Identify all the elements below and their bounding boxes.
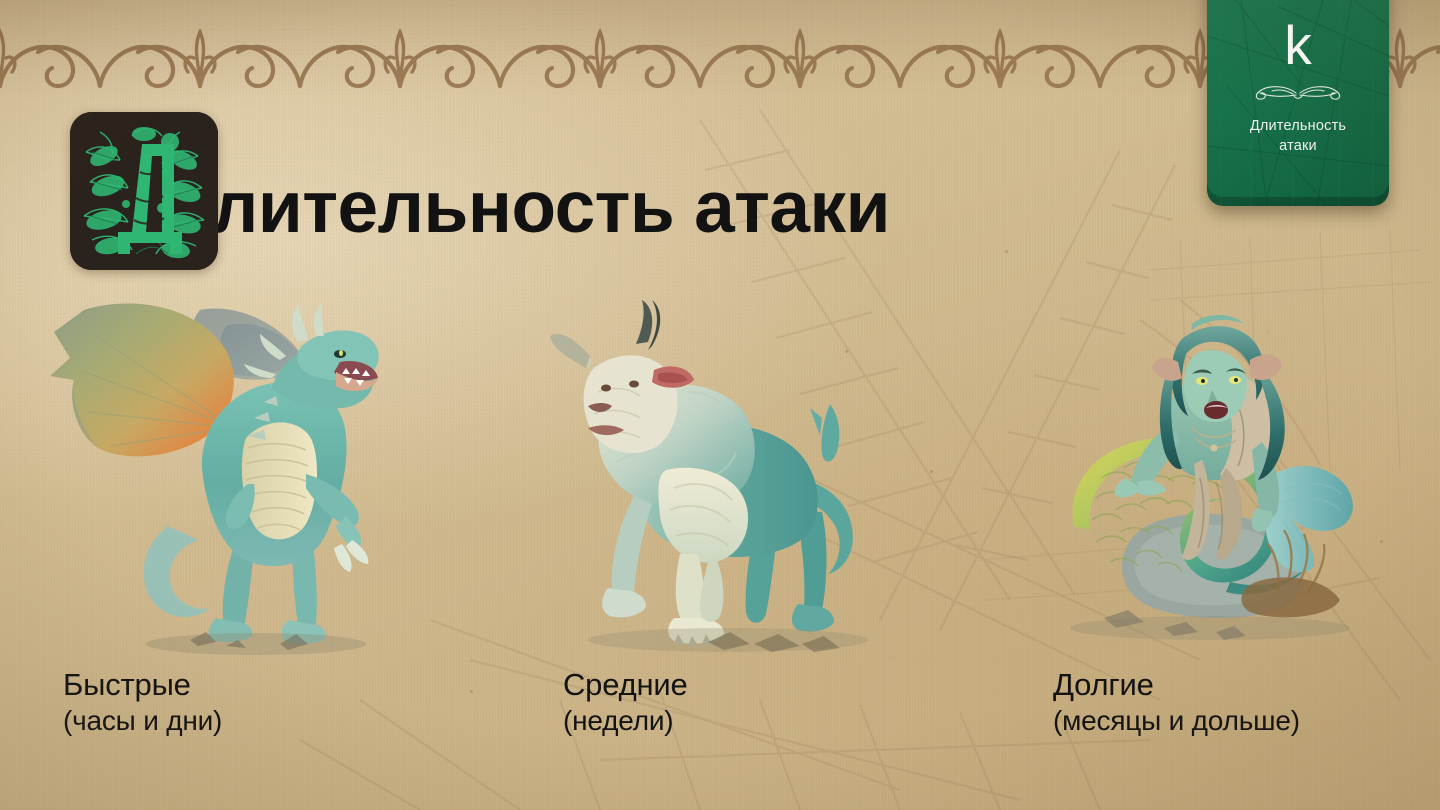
caption-long-title: Долгие — [1053, 668, 1300, 703]
creature-row — [0, 280, 1440, 670]
caption-fast-subtitle: (часы и дни) — [63, 705, 222, 737]
brand-logo-k: k — [1207, 18, 1389, 73]
caption-fast-title: Быстрые — [63, 668, 222, 703]
caption-fast: Быстрые (часы и дни) — [63, 668, 222, 737]
caption-medium-title: Средние — [563, 668, 688, 703]
caption-long-subtitle: (месяцы и дольше) — [1053, 705, 1300, 737]
badge-label-line2: атаки — [1207, 137, 1389, 157]
caption-medium: Средние (недели) — [563, 668, 688, 737]
brand-badge[interactable]: k Длительность атаки — [1207, 0, 1389, 206]
page-title: лительность атаки — [70, 112, 890, 270]
page-title-text: лительность атаки — [212, 174, 890, 241]
caption-medium-subtitle: (недели) — [563, 705, 688, 737]
flourish-divider-icon — [1238, 83, 1358, 103]
slide-canvas: лительность атаки k — [0, 0, 1440, 810]
badge-label-line1: Длительность — [1207, 117, 1389, 137]
caption-long: Долгие (месяцы и дольше) — [1053, 668, 1300, 737]
mermaid-illustration — [1040, 282, 1390, 660]
dragon-illustration — [40, 288, 380, 660]
horned-beast-illustration — [548, 296, 898, 660]
dropcap-tile — [70, 112, 218, 270]
